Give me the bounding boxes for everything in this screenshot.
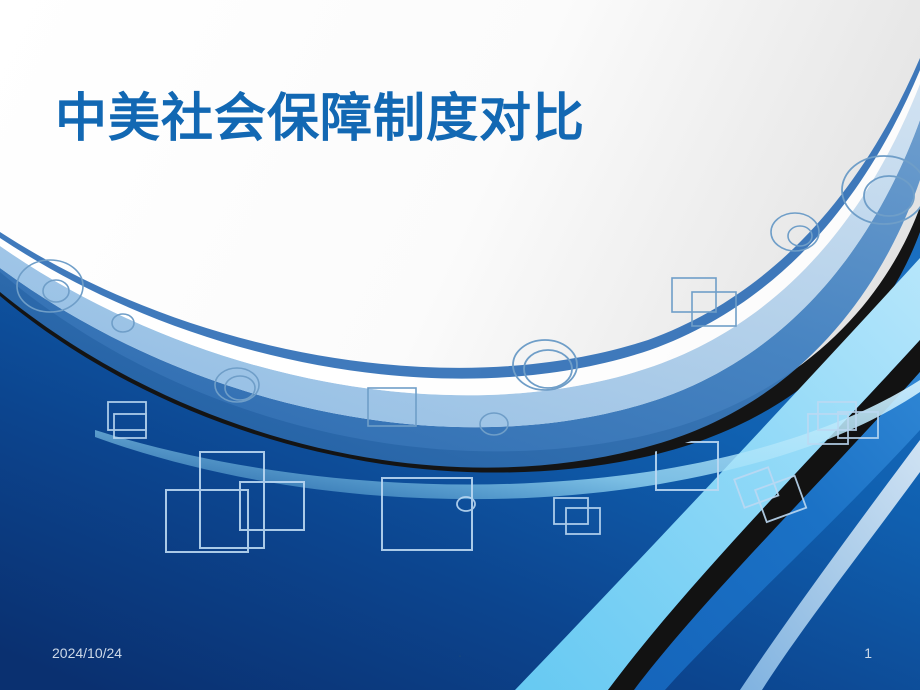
footer-center-text: . xyxy=(0,636,920,670)
footer-page-number: 1 xyxy=(864,636,872,670)
slide-canvas: 中美社会保障制度对比 2024/10/24 . 1 xyxy=(0,0,920,690)
page-title: 中美社会保障制度对比 xyxy=(55,88,755,150)
title-block: 中美社会保障制度对比 xyxy=(55,88,755,150)
